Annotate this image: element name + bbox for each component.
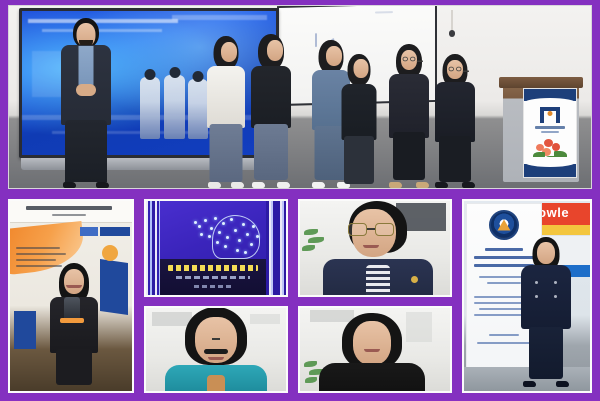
podium-top (499, 77, 583, 88)
photo-collage: knowle (8, 199, 592, 393)
attendee-5 (387, 22, 431, 188)
neural-network-poster (144, 199, 288, 297)
exhibition-stand-photo: knowle (462, 199, 592, 393)
portrait-man-suit (298, 199, 452, 297)
attendee-1 (205, 20, 247, 188)
portrait-man-glasses (144, 306, 288, 393)
collage-column-2 (144, 199, 288, 393)
exhibitor-woman (520, 237, 572, 387)
institute-logo-icon (540, 107, 560, 123)
collage-column-3 (298, 199, 452, 393)
podium (503, 82, 579, 182)
portrait-subject (318, 313, 426, 391)
collage-column-4: knowle (462, 199, 592, 393)
group-photo (8, 5, 592, 189)
collage-frame: knowle (0, 0, 600, 400)
award-ceremony-photo (8, 199, 134, 393)
poster-text-band (160, 259, 266, 295)
collage-column-1 (8, 199, 134, 393)
portrait-woman-hijab (298, 306, 452, 393)
portrait-subject (164, 307, 268, 391)
attendee-4 (339, 30, 379, 188)
attendee-6 (433, 26, 477, 188)
presenter-man (57, 12, 115, 188)
emblem-icon (489, 210, 519, 240)
portrait-subject (322, 201, 434, 295)
neural-head-icon (188, 211, 268, 261)
podium-banner (523, 88, 577, 178)
poster-headline (168, 265, 258, 271)
attendee-2 (249, 16, 293, 188)
